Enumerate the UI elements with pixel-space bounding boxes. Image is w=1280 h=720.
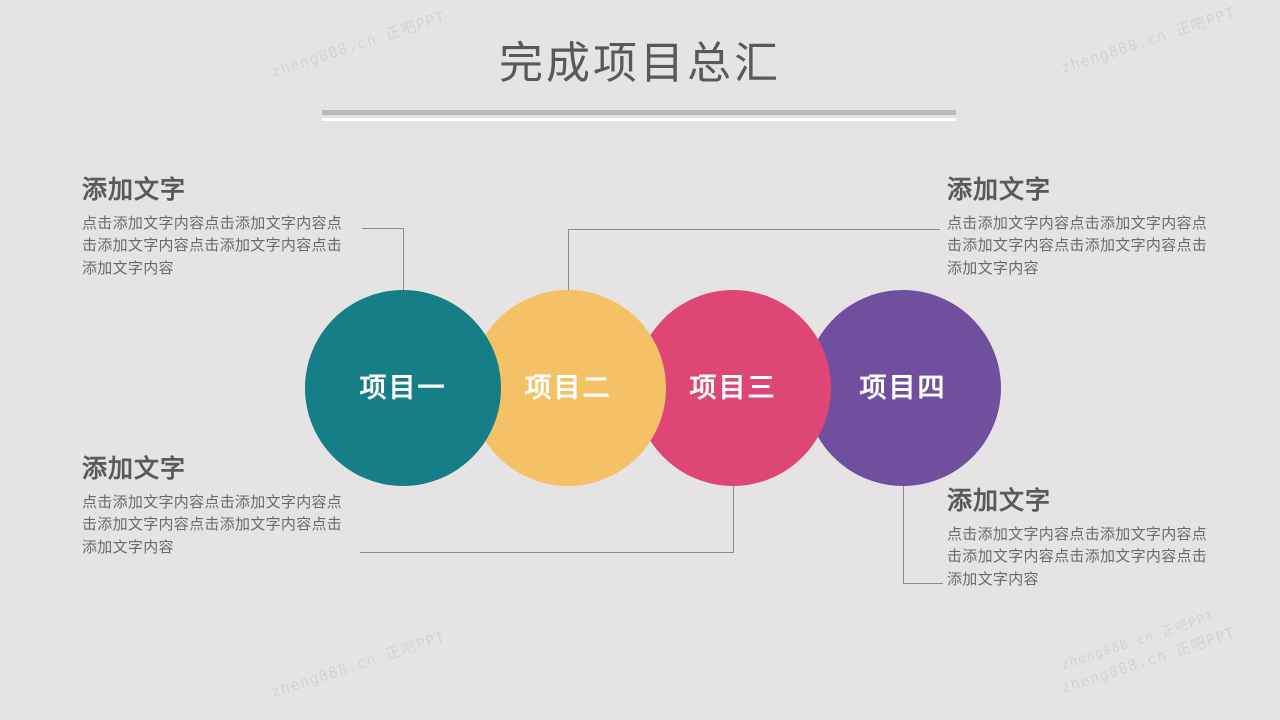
text-block-top-left[interactable]: 添加文字 点击添加文字内容点击添加文字内容点击添加文字内容点击添加文字内容点击添…: [82, 176, 357, 280]
text-block-bottom-right[interactable]: 添加文字 点击添加文字内容点击添加文字内容点击添加文字内容点击添加文字内容点击添…: [947, 487, 1222, 591]
circle-item-3-label: 项目三: [690, 375, 777, 402]
circle-item-4[interactable]: 项目四: [805, 290, 1001, 486]
circle-item-4-label: 项目四: [860, 375, 947, 402]
text-block-bottom-left[interactable]: 添加文字 点击添加文字内容点击添加文字内容点击添加文字内容点击添加文字内容点击添…: [82, 455, 357, 559]
text-block-bottom-left-heading: 添加文字: [82, 455, 357, 484]
connector-line-2: [568, 229, 940, 292]
text-block-top-left-body: 点击添加文字内容点击添加文字内容点击添加文字内容点击添加文字内容点击添加文字内容: [82, 213, 357, 281]
title-underline-highlight: [322, 118, 956, 121]
page-title: 完成项目总汇: [0, 38, 1280, 91]
connector-line-4: [903, 484, 943, 584]
text-block-top-left-heading: 添加文字: [82, 176, 357, 205]
text-block-top-right-body: 点击添加文字内容点击添加文字内容点击添加文字内容点击添加文字内容点击添加文字内容: [947, 213, 1222, 281]
text-block-bottom-left-body: 点击添加文字内容点击添加文字内容点击添加文字内容点击添加文字内容点击添加文字内容: [82, 492, 357, 560]
slide-canvas: 完成项目总汇 项目一 项目二 项目三 项目四 添加文字 点击添加文字内容点击添加…: [0, 0, 1280, 720]
text-block-bottom-right-body: 点击添加文字内容点击添加文字内容点击添加文字内容点击添加文字内容点击添加文字内容: [947, 524, 1222, 592]
connector-line-3: [360, 484, 734, 553]
watermark-bottom-right: zheng888.cn 正吧PPT: [1058, 622, 1238, 698]
watermark-bottom-left: zheng888.cn 正吧PPT: [268, 626, 448, 702]
text-block-top-right-heading: 添加文字: [947, 176, 1222, 205]
text-block-top-right[interactable]: 添加文字 点击添加文字内容点击添加文字内容点击添加文字内容点击添加文字内容点击添…: [947, 176, 1222, 280]
connector-line-1: [362, 228, 404, 292]
circle-item-1-label: 项目一: [360, 375, 447, 402]
circle-item-1[interactable]: 项目一: [305, 290, 501, 486]
title-underline-bar: [322, 110, 956, 115]
circle-item-2-label: 项目二: [525, 375, 612, 402]
text-block-bottom-right-heading: 添加文字: [947, 487, 1222, 516]
watermark-bottom-right-secondary: zheng888.cn 正吧PPT: [1058, 605, 1216, 673]
